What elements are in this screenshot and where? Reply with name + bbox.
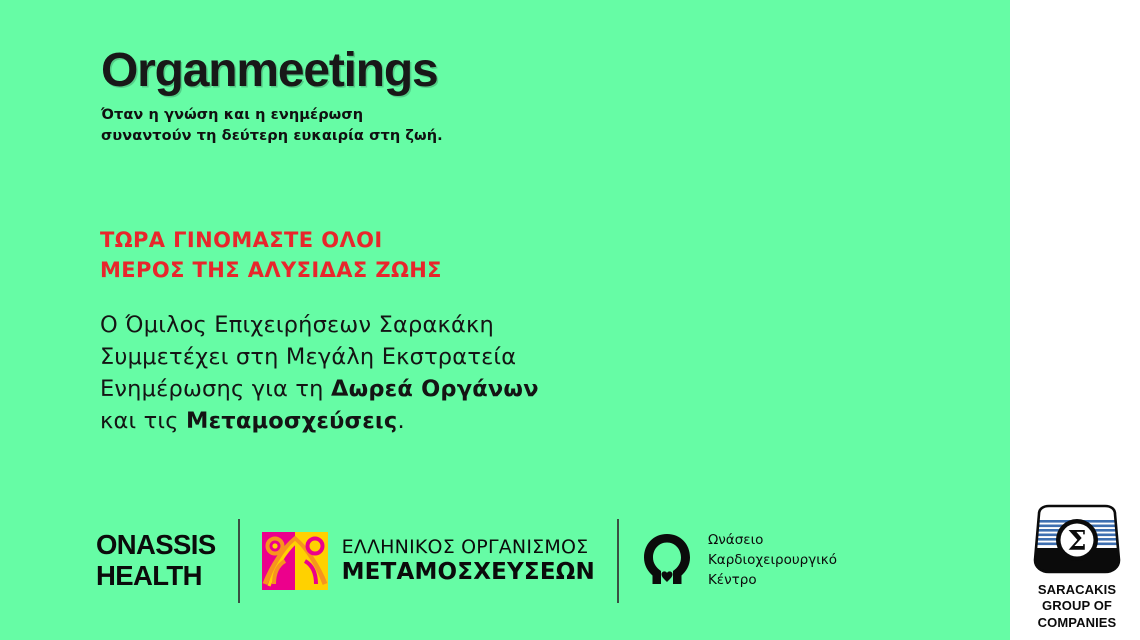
eom-line-2: ΜΕΤΑΜΟΣΧΕΥΣΕΩΝ <box>342 559 595 586</box>
onassis-cardiac-wordmark: Ωνάσειο Καρδιοχειρουργικό Κέντρο <box>708 531 837 591</box>
body-copy-line-4-period: . <box>397 408 404 434</box>
saracakis-line-3: COMPANIES <box>1018 615 1136 631</box>
body-copy-line-1: Ο Όμιλος Επιχειρήσεων Σαρακάκη <box>100 310 539 342</box>
page-title: Organmeetings <box>101 47 701 95</box>
brand-tagline-line-2: συναντούν τη δεύτερη ευκαιρία στη ζωή. <box>101 126 701 147</box>
saracakis-wordmark: SARACAKIS GROUP OF COMPANIES <box>1018 582 1136 631</box>
logo-onassis-cardiac-surgery-center: Ωνάσειο Καρδιοχειρουργικό Κέντρο <box>641 515 837 607</box>
omega-heart-icon <box>641 532 693 590</box>
onassis-health-line-1: ONASSIS <box>96 530 216 561</box>
body-copy-emphasis-transplants: Μεταμοσχεύσεις <box>186 408 397 434</box>
body-copy: Ο Όμιλος Επιχειρήσεων Σαρακάκη Συμμετέχε… <box>100 310 539 438</box>
saracakis-sigma-emblem-icon: Σ <box>1031 504 1123 576</box>
partner-logo-strip: ONASSIS HEALTH ΕΛΛΗΝΙΚΟΣ ΟΡΓΑΝΙΣΜΟΣ <box>96 515 796 607</box>
body-copy-line-4: και τις Μεταμοσχεύσεις. <box>100 406 539 438</box>
logo-divider-1 <box>238 519 240 603</box>
body-copy-line-2: Συμμετέχει στη Μεγάλη Εκστρατεία <box>100 342 539 374</box>
logo-saracakis-group: Σ SARACAKIS GROUP OF COMPANIES <box>1018 504 1136 631</box>
eom-line-1: ΕΛΛΗΝΙΚΟΣ ΟΡΓΑΝΙΣΜΟΣ <box>342 536 595 558</box>
logo-onassis-health: ONASSIS HEALTH <box>96 515 216 607</box>
onassis-cardiac-line-3: Κέντρο <box>708 571 837 591</box>
onassis-health-wordmark: ONASSIS HEALTH <box>96 530 216 592</box>
eom-wordmark: ΕΛΛΗΝΙΚΟΣ ΟΡΓΑΝΙΣΜΟΣ ΜΕΤΑΜΟΣΧΕΥΣΕΩΝ <box>342 536 595 586</box>
body-copy-line-3-text: Ενημέρωσης για τη <box>100 376 331 402</box>
saracakis-line-2: GROUP OF <box>1018 598 1136 614</box>
logo-divider-2 <box>617 519 619 603</box>
onassis-cardiac-line-1: Ωνάσειο <box>708 531 837 551</box>
brand-tagline: Όταν η γνώση και η ενημέρωση συναντούν τ… <box>101 105 701 147</box>
eom-emblem-icon <box>262 532 328 590</box>
campaign-headline-line-2: ΜΕΡΟΣ ΤΗΣ ΑΛΥΣΙΔΑΣ ΖΩΗΣ <box>100 256 442 286</box>
campaign-headline-line-1: ΤΩΡΑ ΓΙΝΟΜΑΣΤΕ ΟΛΟΙ <box>100 226 442 256</box>
slide-canvas: Organmeetings Όταν η γνώση και η ενημέρω… <box>0 0 1140 640</box>
saracakis-line-1: SARACAKIS <box>1018 582 1136 598</box>
onassis-cardiac-line-2: Καρδιοχειρουργικό <box>708 551 837 571</box>
logo-hellenic-transplant-organization: ΕΛΛΗΝΙΚΟΣ ΟΡΓΑΝΙΣΜΟΣ ΜΕΤΑΜΟΣΧΕΥΣΕΩΝ <box>262 515 595 607</box>
body-copy-line-4-text: και τις <box>100 408 186 434</box>
brand-block: Organmeetings Όταν η γνώση και η ενημέρω… <box>101 47 701 147</box>
campaign-headline: ΤΩΡΑ ΓΙΝΟΜΑΣΤΕ ΟΛΟΙ ΜΕΡΟΣ ΤΗΣ ΑΛΥΣΙΔΑΣ Ζ… <box>100 226 442 286</box>
body-copy-emphasis-organ-donation: Δωρεά Οργάνων <box>331 376 539 402</box>
onassis-health-line-2: HEALTH <box>96 561 216 592</box>
brand-tagline-line-1: Όταν η γνώση και η ενημέρωση <box>101 105 701 126</box>
body-copy-line-3: Ενημέρωσης για τη Δωρεά Οργάνων <box>100 374 539 406</box>
sigma-glyph: Σ <box>1067 526 1086 557</box>
